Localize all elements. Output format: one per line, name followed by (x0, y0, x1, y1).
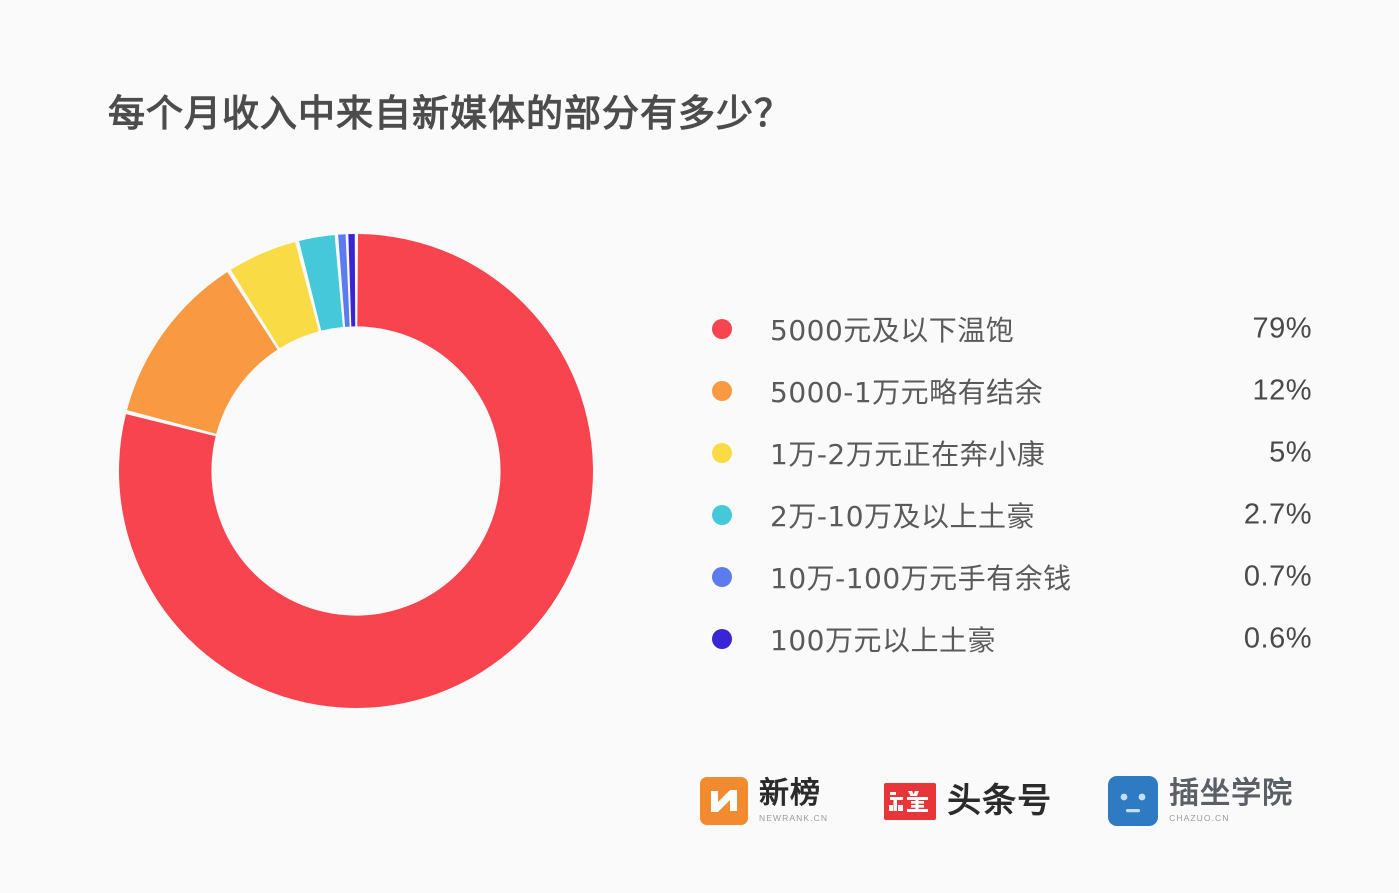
legend-item-value: 0.6% (1244, 623, 1312, 656)
legend-item-3[interactable]: 2万-10万及以上土豪 2.7% (712, 484, 1312, 546)
legend-item-value: 0.7% (1244, 561, 1312, 594)
newrank-name-en: NEWRANK.CN (759, 814, 828, 823)
logo-chazuo: 插坐学院 CHAZUO.CN (1108, 776, 1293, 826)
newrank-text-block: 新榜 NEWRANK.CN (759, 779, 828, 823)
chazuo-name-cn: 插坐学院 (1169, 779, 1293, 809)
legend-swatch-icon (712, 319, 732, 339)
legend-item-2[interactable]: 1万-2万元正在奔小康 5% (712, 422, 1312, 484)
legend-swatch-icon (712, 567, 732, 587)
slide-canvas: 每个月收入中来自新媒体的部分有多少？ 5000元及以下温饱 79% 5000-1… (0, 0, 1399, 893)
legend-item-label: 10万-100万元手有余钱 (770, 557, 1072, 597)
legend-item-value: 5% (1269, 437, 1312, 470)
toutiao-name-cn: 头条号 (947, 784, 1052, 818)
logo-toutiaohao: 头条号 (884, 783, 1052, 820)
newrank-name-cn: 新榜 (759, 779, 828, 809)
legend-swatch-icon (712, 443, 732, 463)
legend-item-label: 5000-1万元略有结余 (770, 371, 1043, 411)
legend-item-value: 12% (1252, 375, 1312, 408)
legend-swatch-icon (712, 629, 732, 649)
legend-item-label: 5000元及以下温饱 (770, 309, 1014, 349)
legend-item-value: 2.7% (1244, 499, 1312, 532)
donut-chart (110, 225, 602, 717)
legend-item-label: 1万-2万元正在奔小康 (770, 433, 1045, 473)
toutiao-mark-icon (884, 783, 936, 820)
legend-item-5[interactable]: 100万元以上土豪 0.6% (712, 608, 1312, 670)
page-title: 每个月收入中来自新媒体的部分有多少？ (108, 83, 792, 137)
newrank-mark-icon (700, 777, 748, 825)
footer-logo-bar: 新榜 NEWRANK.CN 头条号 (700, 776, 1293, 826)
donut-slice-group (119, 234, 593, 708)
donut-slice[interactable] (348, 234, 355, 327)
chazuo-name-en: CHAZUO.CN (1169, 814, 1293, 823)
chazuo-mark-icon (1108, 776, 1158, 826)
legend-swatch-icon (712, 505, 732, 525)
toutiao-text-block: 头条号 (947, 784, 1052, 818)
chart-legend: 5000元及以下温饱 79% 5000-1万元略有结余 12% 1万-2万元正在… (712, 298, 1312, 670)
legend-swatch-icon (712, 381, 732, 401)
legend-item-1[interactable]: 5000-1万元略有结余 12% (712, 360, 1312, 422)
legend-item-label: 2万-10万及以上土豪 (770, 495, 1035, 535)
logo-newrank: 新榜 NEWRANK.CN (700, 777, 828, 825)
legend-item-value: 79% (1252, 313, 1312, 346)
legend-item-label: 100万元以上土豪 (770, 619, 996, 659)
donut-chart-svg (110, 225, 602, 717)
legend-item-4[interactable]: 10万-100万元手有余钱 0.7% (712, 546, 1312, 608)
legend-item-0[interactable]: 5000元及以下温饱 79% (712, 298, 1312, 360)
chazuo-text-block: 插坐学院 CHAZUO.CN (1169, 779, 1293, 823)
